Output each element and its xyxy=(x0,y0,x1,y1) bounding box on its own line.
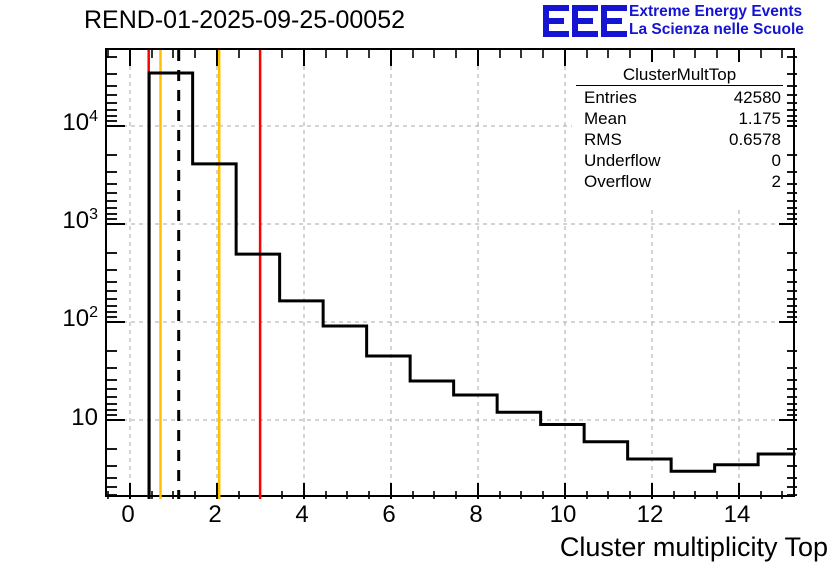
stats-label-underflow: Underflow xyxy=(584,150,661,171)
y-tick-label-1000: 103 xyxy=(22,209,98,233)
eee-logo: Extreme Energy Events La Scienza nelle S… xyxy=(543,2,835,42)
y-tick-label-100: 102 xyxy=(22,307,98,331)
root-canvas: REND-01-2025-09-25-00052 Extreme Energy … xyxy=(0,0,836,572)
x-tick-label-14: 14 xyxy=(707,503,767,527)
stats-label-entries: Entries xyxy=(584,87,637,108)
stats-row-rms: RMS 0.6578 xyxy=(572,129,787,150)
x-axis-title: Cluster multiplicity Top xyxy=(560,532,836,562)
x-tick-label-2: 2 xyxy=(185,503,245,527)
stats-value-underflow: 0 xyxy=(772,150,781,171)
y-tick-label-10: 10 xyxy=(28,406,98,430)
stats-value-rms: 0.6578 xyxy=(729,129,781,150)
page-title: REND-01-2025-09-25-00052 xyxy=(84,6,405,34)
stats-label-rms: RMS xyxy=(584,129,622,150)
stats-row-overflow: Overflow 2 xyxy=(572,171,787,192)
eee-logo-mark-icon xyxy=(543,4,627,38)
stats-title: ClusterMultTop xyxy=(576,62,783,86)
x-tick-label-4: 4 xyxy=(272,503,332,527)
x-tick-label-12: 12 xyxy=(620,503,680,527)
stats-value-entries: 42580 xyxy=(734,87,781,108)
x-axis-ticks-bottom xyxy=(108,483,782,499)
stats-value-overflow: 2 xyxy=(772,171,781,192)
stats-row-mean: Mean 1.175 xyxy=(572,108,787,129)
x-tick-label-8: 8 xyxy=(446,503,506,527)
x-tick-label-6: 6 xyxy=(359,503,419,527)
stats-value-mean: 1.175 xyxy=(738,108,781,129)
y-tick-label-10000: 104 xyxy=(22,111,98,135)
stats-row-entries: Entries 42580 xyxy=(572,87,787,108)
stats-row-underflow: Underflow 0 xyxy=(572,150,787,171)
stats-box: ClusterMultTop Entries 42580 Mean 1.175 … xyxy=(572,62,787,208)
eee-logo-line2: La Scienza nelle Scuole xyxy=(629,21,804,39)
eee-logo-text: Extreme Energy Events La Scienza nelle S… xyxy=(629,3,804,38)
stats-label-overflow: Overflow xyxy=(584,171,651,192)
x-tick-label-10: 10 xyxy=(533,503,593,527)
stats-label-mean: Mean xyxy=(584,108,627,129)
x-tick-label-0: 0 xyxy=(98,503,158,527)
y-axis-ticks-left xyxy=(107,57,125,495)
eee-logo-line1: Extreme Energy Events xyxy=(629,3,804,21)
